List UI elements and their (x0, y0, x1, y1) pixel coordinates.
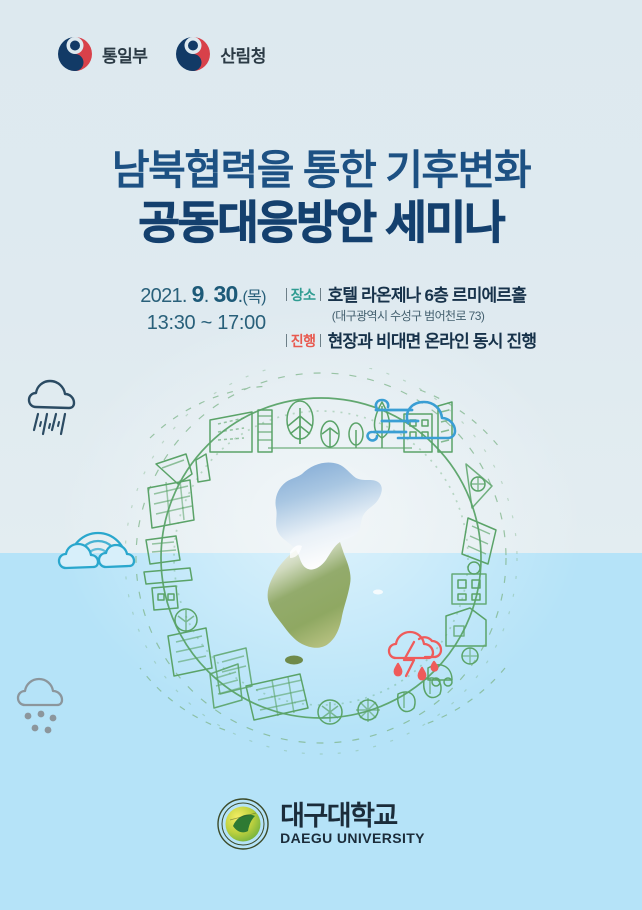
place-address: (대구광역시 수성구 범어천로 73) (332, 307, 536, 324)
university-footer: 대구대학교 DAEGU UNIVERSITY (0, 798, 642, 850)
mode-value: 현장과 비대면 온라인 동시 진행 (328, 327, 537, 352)
event-month: 9 (192, 281, 204, 307)
ring-icons-top (210, 401, 452, 452)
host-logo-forest-service: 산림청 (173, 34, 265, 74)
university-name-en: DAEGU UNIVERSITY (280, 831, 425, 846)
rain-cloud-icon (29, 381, 74, 434)
ulleungdo-island (373, 590, 383, 595)
title-line-1: 남북협력을 통한 기후변화 (0, 146, 642, 194)
daegu-university-emblem-icon (217, 798, 269, 850)
central-illustration (0, 368, 642, 768)
detail-row-mode: 진행 현장과 비대면 온라인 동시 진행 (286, 327, 536, 352)
rainbow-cloud-icon (59, 533, 134, 568)
snow-cloud-icon (18, 679, 62, 733)
event-details: 장소 호텔 라온제나 6층 르미에르홀 (대구광역시 수성구 범어천로 73) … (280, 281, 536, 352)
event-year: 2021. (140, 285, 187, 307)
event-date: 2021. 9. 30.(목) (106, 281, 266, 308)
host-logo-unification: 통일부 (55, 34, 147, 74)
poster-title: 남북협력을 통한 기후변화 공동대응방안 세미나 (0, 146, 642, 249)
jeju-island (285, 656, 303, 665)
date-dot-1: . (204, 285, 209, 307)
place-value: 호텔 라온제나 6층 르미에르홀 (328, 281, 527, 306)
host-logos: 통일부 산림청 (55, 34, 266, 74)
korea-government-taegeuk-emblem-icon (55, 34, 95, 74)
seminar-poster: 통일부 산림청 남북협력을 통한 기후변화 공동대응방안 세미나 2021. 9… (0, 0, 642, 910)
korean-peninsula-map (268, 462, 383, 664)
event-time: 13:30 ~ 17:00 (106, 312, 266, 335)
place-label: 장소 (286, 285, 321, 305)
university-name-ko: 대구대학교 (280, 802, 425, 830)
title-line-2: 공동대응방안 세미나 (0, 196, 642, 249)
ring-icons-left (144, 454, 252, 694)
event-schedule: 2021. 9. 30.(목) 13:30 ~ 17:00 (106, 281, 280, 335)
detail-row-place: 장소 호텔 라온제나 6층 르미에르홀 (286, 281, 536, 306)
event-info: 2021. 9. 30.(목) 13:30 ~ 17:00 장소 호텔 라온제나… (0, 281, 642, 352)
ring-icons-right (428, 464, 496, 686)
event-day: 30 (213, 281, 237, 307)
mode-label: 진행 (286, 331, 321, 351)
host-name-forest-service: 산림청 (220, 42, 265, 67)
host-name-unification: 통일부 (102, 42, 147, 67)
university-names: 대구대학교 DAEGU UNIVERSITY (280, 802, 425, 845)
event-weekday: (목) (243, 289, 266, 306)
korea-government-taegeuk-emblem-icon (173, 34, 213, 74)
